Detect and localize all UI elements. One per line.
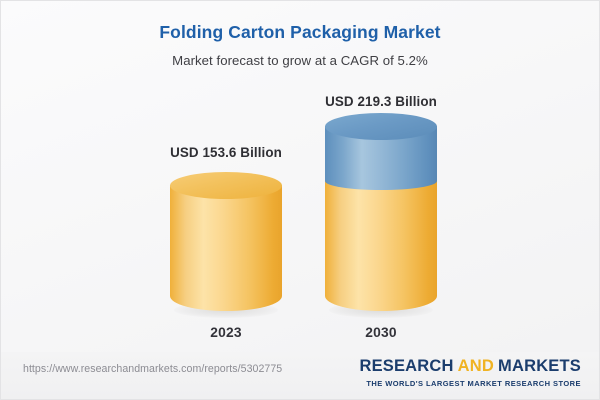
- footer: https://www.researchandmarkets.com/repor…: [1, 352, 599, 399]
- bar-value-label-2023: USD 153.6 Billion: [146, 145, 306, 160]
- bar-cap-2023: [170, 172, 282, 199]
- logo-word-and: AND: [458, 357, 494, 375]
- axis-label-2023: 2023: [146, 325, 306, 340]
- axis-label-2030: 2030: [301, 325, 461, 340]
- page-title: Folding Carton Packaging Market: [1, 22, 599, 43]
- logo-word-research: RESEARCH: [359, 357, 453, 375]
- market-infographic: Folding Carton Packaging Market Market f…: [0, 0, 600, 400]
- bar-cap-2030: [325, 113, 437, 140]
- logo-tagline: THE WORLD'S LARGEST MARKET RESEARCH STOR…: [359, 379, 581, 388]
- bar-fill-base-2023: [170, 185, 282, 311]
- page-subtitle: Market forecast to grow at a CAGR of 5.2…: [1, 53, 599, 68]
- logo-wordmark: RESEARCHANDMARKETS: [359, 357, 581, 376]
- chart-plot-area: USD 153.6 Billion 2023 USD 219.3 Billion: [1, 85, 599, 340]
- bar-body-2030: [325, 126, 437, 311]
- bar-group-2023: USD 153.6 Billion 2023: [146, 85, 306, 340]
- header: Folding Carton Packaging Market Market f…: [1, 1, 599, 68]
- bar-body-2023: [170, 185, 282, 311]
- source-url[interactable]: https://www.researchandmarkets.com/repor…: [23, 363, 282, 375]
- brand-logo[interactable]: RESEARCHANDMARKETS THE WORLD'S LARGEST M…: [359, 357, 581, 388]
- logo-word-markets: MARKETS: [498, 357, 581, 375]
- bar-cylinder-2023: [170, 172, 282, 311]
- bar-cylinder-2030: [325, 113, 437, 311]
- bar-value-label-2030: USD 219.3 Billion: [301, 94, 461, 109]
- bar-group-2030: USD 219.3 Billion 2030: [301, 85, 461, 340]
